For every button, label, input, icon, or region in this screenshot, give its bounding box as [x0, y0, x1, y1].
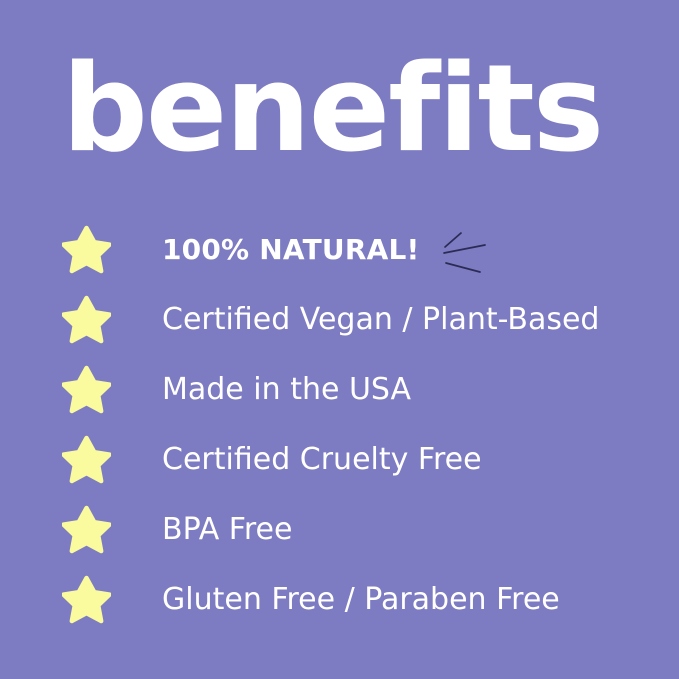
benefit-item-label: 100% NATURAL!: [162, 233, 419, 267]
benefit-list-item: BPA Free: [0, 495, 679, 565]
page-title: benefits: [62, 54, 622, 166]
benefit-list-item: Made in the USA: [0, 355, 679, 425]
benefit-item-label: Certified Cruelty Free: [162, 443, 482, 477]
star-icon: [62, 296, 111, 345]
benefit-list-item: Certified Cruelty Free: [0, 425, 679, 495]
sparkle-burst-icon: [440, 223, 494, 277]
star-icon: [62, 226, 111, 275]
benefit-list-item: 100% NATURAL!: [0, 215, 679, 285]
star-icon: [62, 506, 111, 555]
benefits-poster: benefits 100% NATURAL!: [0, 0, 679, 679]
benefit-list-item: Gluten Free / Paraben Free: [0, 565, 679, 635]
benefit-item-label: Made in the USA: [162, 373, 411, 407]
star-icon: [62, 576, 111, 625]
benefit-item-label: BPA Free: [162, 513, 292, 547]
benefit-list: 100% NATURAL! Certified Vegan / Plant-Ba…: [0, 215, 679, 635]
star-icon: [62, 436, 111, 485]
benefit-item-label: Certified Vegan / Plant-Based: [162, 303, 599, 337]
benefit-list-item: Certified Vegan / Plant-Based: [0, 285, 679, 355]
benefit-item-label: Gluten Free / Paraben Free: [162, 583, 560, 617]
star-icon: [62, 366, 111, 415]
